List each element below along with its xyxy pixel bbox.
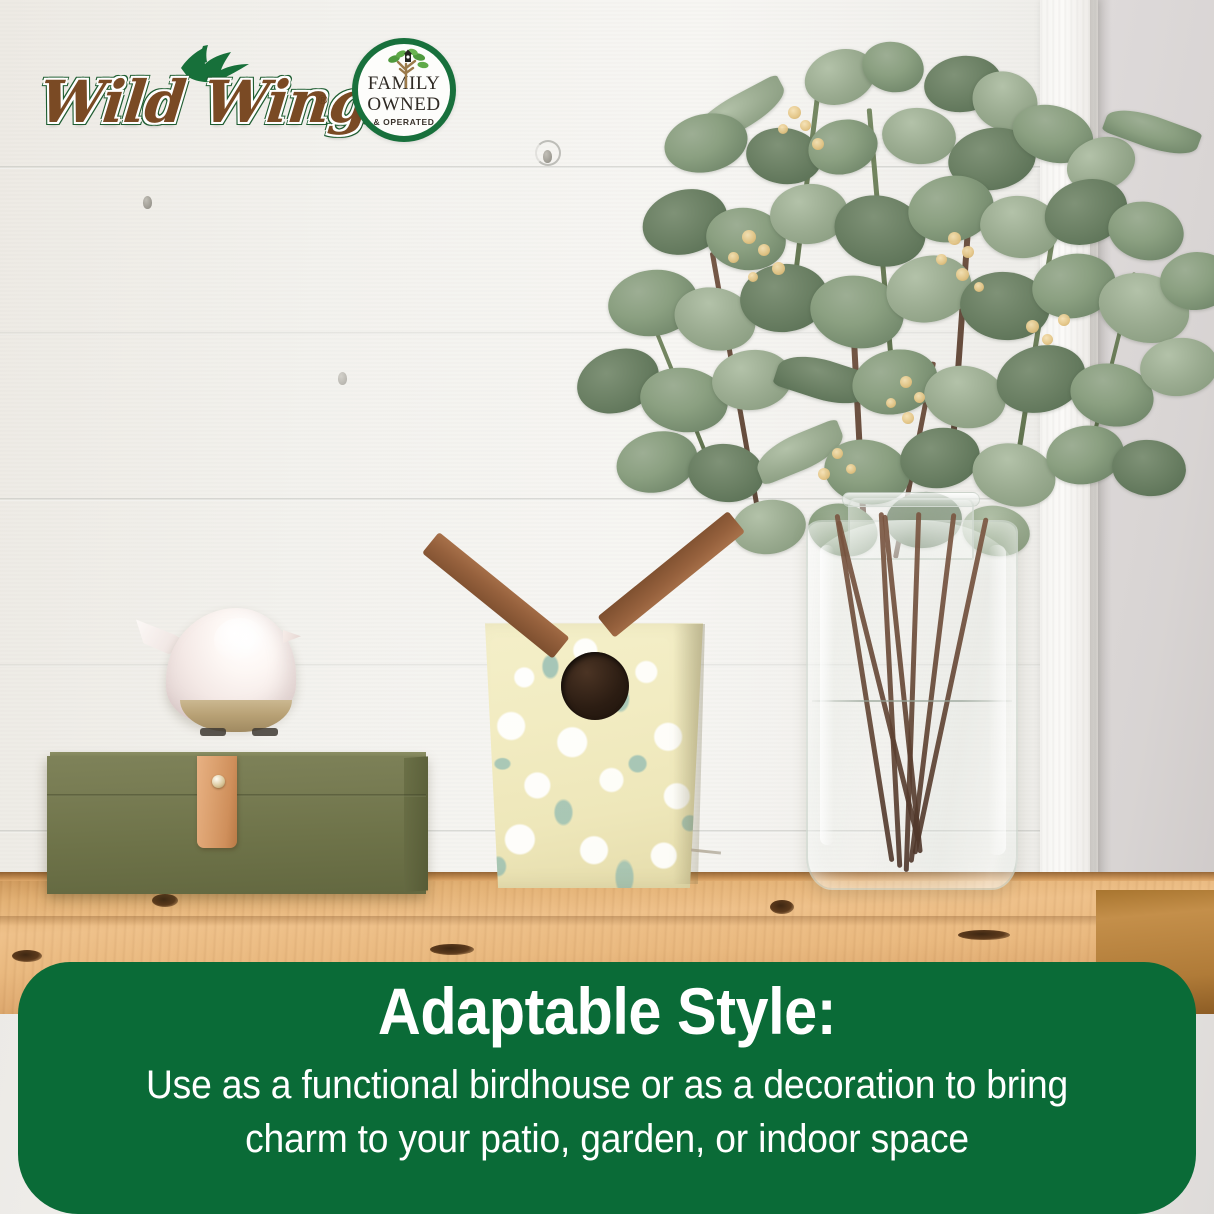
nail-head-icon (543, 150, 552, 163)
bloom (812, 138, 824, 150)
wood-knot (958, 930, 1010, 940)
bloom (758, 244, 770, 256)
bloom (832, 448, 843, 459)
bloom (1042, 334, 1053, 345)
ceramic-bird-foot (252, 728, 278, 736)
jar-rim (842, 492, 980, 507)
bloom (914, 392, 925, 403)
water-line (812, 700, 1012, 702)
brass-stud-icon (212, 775, 225, 788)
bloom (800, 120, 811, 131)
birdhouse-entrance-hole (561, 652, 629, 720)
bloom (1026, 320, 1039, 333)
bloom (742, 230, 756, 244)
shelf-grain-band (0, 916, 1214, 926)
jar-left-highlight (820, 545, 834, 845)
bloom (788, 106, 801, 119)
birdhouse-side-shadow (673, 624, 705, 884)
bloom (902, 412, 914, 424)
badge-line-2: OWNED (367, 95, 440, 114)
leather-pull-strap (197, 756, 237, 848)
banner-subtitle-line-2: charm to your patio, garden, or indoor s… (59, 1113, 1155, 1165)
banner-title: Adaptable Style: (77, 976, 1137, 1047)
bloom (1058, 314, 1070, 326)
tree-with-birdhouse-icon (384, 48, 430, 88)
wood-knot (430, 944, 474, 955)
ceramic-bird-highlight (214, 618, 266, 662)
product-lifestyle-image: Wild Wings ® FAMILY OWNED & OPERATED Ada… (0, 0, 1214, 1214)
badge-line-3: & OPERATED (373, 117, 434, 127)
logo-wordmark: Wild Wings (36, 68, 404, 136)
bloom (772, 262, 785, 275)
wild-wings-logo[interactable]: Wild Wings ® (40, 44, 340, 144)
bloom (956, 268, 969, 281)
leaf (879, 104, 958, 167)
bloom (962, 246, 974, 258)
banner-subtitle-line-1: Use as a functional birdhouse or as a de… (59, 1059, 1155, 1111)
family-owned-badge[interactable]: FAMILY OWNED & OPERATED (352, 38, 456, 142)
wood-knot (152, 894, 178, 907)
floral-birdhouse (455, 532, 745, 902)
caption-banner: Adaptable Style: Use as a functional bir… (18, 962, 1196, 1214)
bloom (748, 272, 758, 282)
bloom (778, 124, 788, 134)
bloom (846, 464, 856, 474)
bloom (936, 254, 947, 265)
eucalyptus-arrangement (556, 20, 1214, 560)
jar-right-highlight (988, 545, 1006, 855)
registered-trademark: ® (318, 92, 328, 107)
bloom (818, 468, 830, 480)
nail-head-icon (338, 372, 347, 385)
olive-canvas-box-side (404, 756, 428, 892)
bloom (974, 282, 984, 292)
bloom (948, 232, 961, 245)
jar-neck (848, 498, 974, 560)
ceramic-bird-foot (200, 728, 226, 736)
bloom (886, 398, 896, 408)
wood-knot (12, 950, 42, 962)
nail-head-icon (143, 196, 152, 209)
bloom (900, 376, 912, 388)
wood-knot (770, 900, 794, 914)
bloom (728, 252, 739, 263)
